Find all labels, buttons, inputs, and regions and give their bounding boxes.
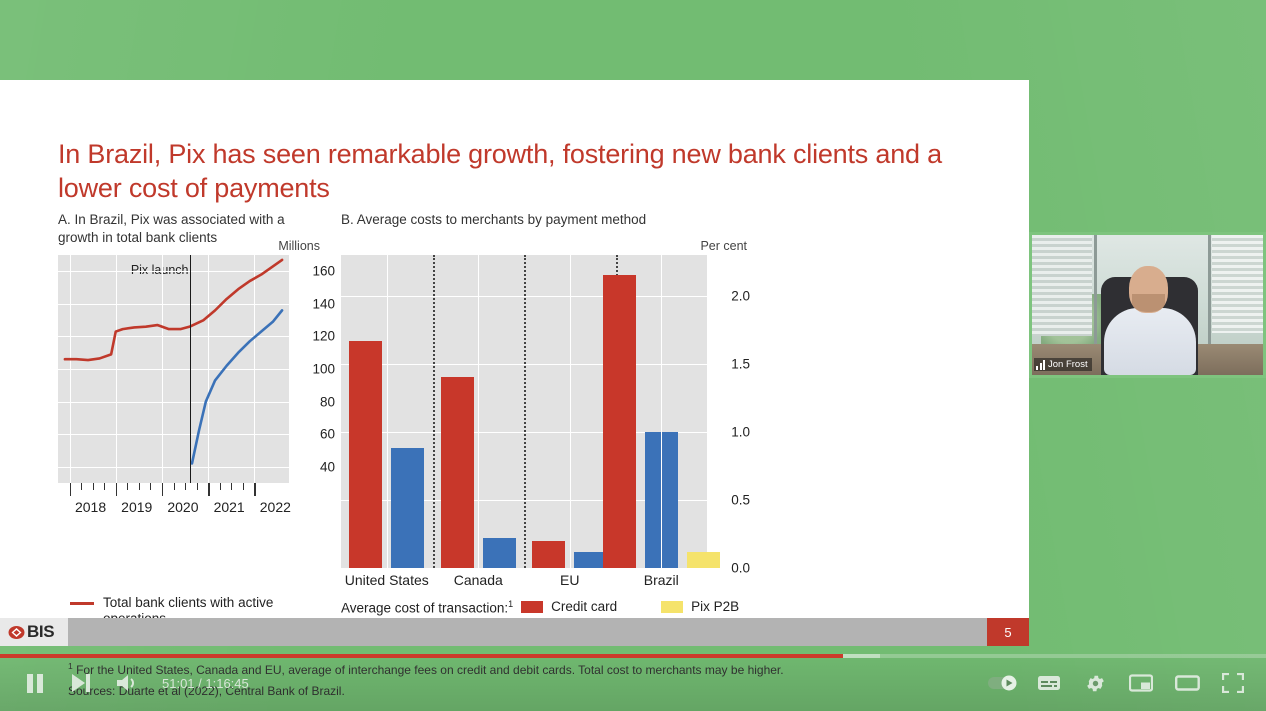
category-label: Brazil (644, 572, 679, 588)
axis-year-label: 2022 (260, 499, 291, 515)
axis-tick-label: 0.0 (731, 561, 750, 576)
subtitles-icon (1037, 674, 1061, 692)
chart-b-bar (532, 541, 565, 568)
axis-tick (127, 483, 128, 490)
slide-footer-bar: BIS 5 (0, 618, 1029, 646)
next-track-icon (71, 674, 91, 692)
volume-button[interactable] (104, 668, 150, 698)
gridline (341, 568, 707, 569)
window-blinds-left (1032, 235, 1092, 336)
chart-a-series-line (192, 310, 282, 463)
axis-tick-label: 1.5 (731, 356, 750, 371)
fullscreen-icon (1222, 673, 1244, 693)
chart-panel-b (341, 255, 707, 568)
chart-b-y-axis: 0.00.51.01.52.0 (710, 255, 750, 568)
chart-panel-a: Pix launch (58, 255, 289, 483)
gridline (478, 255, 479, 568)
axis-tick-label: 40 (320, 459, 335, 474)
autoplay-toggle[interactable] (980, 668, 1026, 698)
axis-tick (104, 483, 105, 490)
category-separator (524, 255, 526, 568)
panel-a-unit-label: Millions (225, 239, 320, 253)
next-button[interactable] (58, 668, 104, 698)
chart-b-category-labels: United StatesCanadaEUBrazil (330, 572, 720, 592)
axis-tick-label: 2.0 (731, 288, 750, 303)
legend-color-swatch (70, 602, 94, 605)
progress-bar[interactable] (0, 654, 1266, 658)
panel-b-unit-label: Per cent (620, 239, 747, 253)
axis-tick (162, 483, 163, 496)
miniplayer-icon (1129, 674, 1153, 692)
axis-tick (139, 483, 140, 490)
axis-tick (116, 483, 117, 496)
axis-tick (231, 483, 232, 490)
axis-year-label: 2020 (167, 499, 198, 515)
chart-b-bar (441, 377, 474, 568)
axis-tick (208, 483, 209, 496)
speaker-torso (1104, 308, 1196, 375)
gear-icon (1085, 673, 1106, 694)
pix-launch-marker-line (190, 255, 192, 483)
axis-tick (197, 483, 198, 490)
category-label: United States (345, 572, 429, 588)
axis-tick (93, 483, 94, 490)
fullscreen-button[interactable] (1210, 668, 1256, 698)
subtitles-button[interactable] (1026, 668, 1072, 698)
window-blinds-right (1212, 235, 1263, 333)
axis-tick (254, 483, 255, 496)
progress-played (0, 654, 843, 658)
volume-icon (116, 674, 138, 692)
player-controls: 51:01 / 1:16:45 (0, 654, 1266, 711)
settings-button[interactable] (1072, 668, 1118, 698)
chart-a-y-axis: 406080100120140160 (291, 255, 335, 483)
slide-title: In Brazil, Pix has seen remarkable growt… (58, 137, 958, 205)
axis-tick (81, 483, 82, 490)
legend-label: Pix P2B (691, 599, 739, 614)
webcam-video-frame (1032, 235, 1263, 375)
legend-color-swatch (521, 601, 543, 613)
video-player-stage: In Brazil, Pix has seen remarkable growt… (0, 0, 1266, 711)
time-display: 51:01 / 1:16:45 (162, 676, 249, 691)
axis-tick-label: 120 (312, 329, 335, 344)
pause-button[interactable] (12, 668, 58, 698)
chart-b-bar (391, 448, 424, 568)
panel-b-heading: B. Average costs to merchants by payment… (341, 211, 771, 229)
footnote-marker: 1 (508, 599, 513, 609)
axis-tick (243, 483, 244, 490)
speaker-beard (1132, 294, 1164, 312)
slide-page-number: 5 (987, 618, 1029, 646)
bis-logo: BIS (0, 618, 68, 646)
axis-tick (220, 483, 221, 490)
theater-mode-icon (1175, 674, 1200, 692)
legend-item: Credit card (521, 599, 617, 614)
participant-name: Jon Frost (1048, 359, 1088, 370)
axis-year-label: 2021 (214, 499, 245, 515)
category-separator (433, 255, 435, 568)
participant-name-badge: Jon Frost (1034, 358, 1092, 371)
theater-button[interactable] (1164, 668, 1210, 698)
gridline (661, 255, 662, 568)
axis-tick (150, 483, 151, 490)
chart-b-bar (603, 275, 636, 568)
category-label: EU (560, 572, 579, 588)
pause-icon (26, 674, 44, 693)
axis-tick-label: 60 (320, 427, 335, 442)
chart-b-bar (349, 341, 382, 568)
axis-tick-label: 1.0 (731, 424, 750, 439)
gridline (570, 255, 571, 568)
miniplayer-button[interactable] (1118, 668, 1164, 698)
axis-tick-label: 160 (312, 264, 335, 279)
webcam-tile[interactable]: Jon Frost (1029, 232, 1266, 378)
gridline (387, 255, 388, 568)
bis-logo-text: BIS (27, 622, 54, 642)
axis-year-label: 2018 (75, 499, 106, 515)
chart-a-x-ticks (58, 483, 289, 498)
legend-item: Pix P2B (661, 599, 739, 614)
audio-level-icon (1036, 360, 1045, 370)
legend-label: Credit card (551, 599, 617, 614)
legend-color-swatch (661, 601, 683, 613)
bis-diamond-icon (8, 625, 25, 640)
axis-tick-label: 0.5 (731, 492, 750, 507)
autoplay-toggle-icon (988, 675, 1018, 691)
axis-tick (185, 483, 186, 490)
axis-tick (70, 483, 71, 496)
presentation-slide: In Brazil, Pix has seen remarkable growt… (0, 80, 1029, 646)
axis-tick-label: 100 (312, 362, 335, 377)
axis-tick-label: 80 (320, 394, 335, 409)
chart-b-legend-caption-text: Average cost of transaction: (341, 601, 508, 616)
axis-tick-label: 140 (312, 296, 335, 311)
axis-tick (174, 483, 175, 490)
axis-year-label: 2019 (121, 499, 152, 515)
chart-a-x-labels: 20182019202020212022 (40, 499, 315, 519)
category-label: Canada (454, 572, 503, 588)
chart-a-lines (58, 255, 289, 483)
chart-a-series-line (65, 260, 282, 360)
chart-b-bar (483, 538, 516, 568)
